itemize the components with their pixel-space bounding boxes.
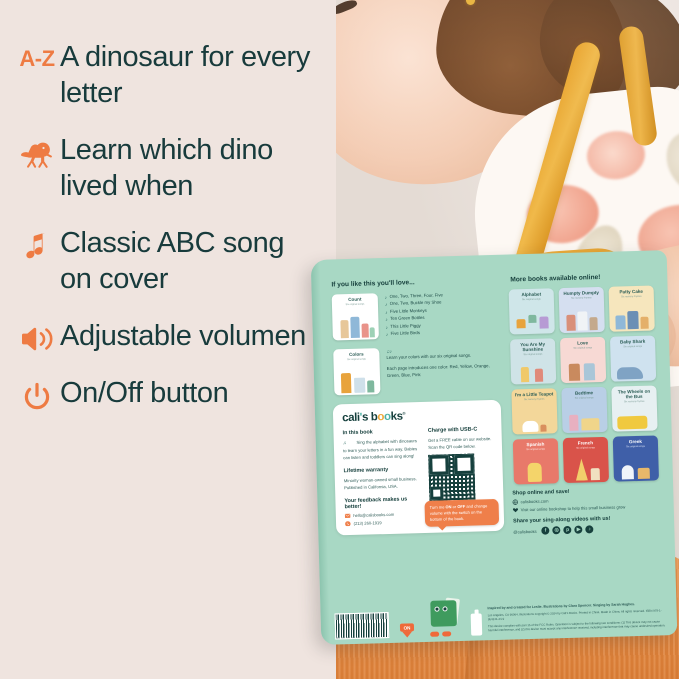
in-this-book-text: Sing the alphabet with dinosaurs to lear… xyxy=(343,438,417,460)
dinosaur-icon xyxy=(14,133,60,171)
thumb-artwork xyxy=(562,404,608,431)
shop-section: Shop online and save! calisbooks.com Vis… xyxy=(512,486,660,512)
more-books-title: More books available online! xyxy=(510,272,653,283)
share-title: Share your sing-along videos with us! xyxy=(513,514,660,524)
thumb-artwork xyxy=(559,304,605,331)
mascot-body xyxy=(430,600,457,627)
warranty-title: Lifetime warranty xyxy=(344,466,421,474)
mail-icon xyxy=(345,513,351,519)
thumb-subtitle: Six original songs xyxy=(566,446,605,450)
music-note-icon: ♪ xyxy=(385,309,388,316)
shop-website: calisbooks.com xyxy=(520,499,548,505)
barcode xyxy=(335,612,390,639)
a-z-icon: A-Z xyxy=(14,40,60,72)
thumb-artwork xyxy=(563,454,609,481)
thumb-subtitle: Six original songs xyxy=(335,302,375,306)
thumb-subtitle: Six nursery rhymes xyxy=(562,296,601,300)
card-left-column: In this book ♫ Sing the alphabet with di… xyxy=(342,428,422,527)
thumb-artwork xyxy=(612,402,658,429)
thumb-subtitle: Six original songs xyxy=(336,357,376,361)
thumb-subtitle: Six original songs xyxy=(616,445,655,449)
power-icon xyxy=(14,376,60,412)
book-thumb-colors[interactable]: Colors Six original songs xyxy=(333,348,380,395)
thumb-artwork xyxy=(513,455,559,482)
thumb-artwork xyxy=(560,354,606,381)
shop-note: Visit our online bookshop to help this s… xyxy=(521,504,626,512)
feature-item-alphabet: A-Z A dinosaur for every letter xyxy=(14,40,322,112)
feature-item-abc-song: Classic ABC song on cover xyxy=(14,226,322,298)
youtube-icon[interactable]: ▶ xyxy=(574,526,582,534)
thumb-subtitle: Six nursery rhymes xyxy=(612,295,651,299)
fine-print: Inspired by and created for Leslie. Illu… xyxy=(487,601,667,635)
social-links: @calisbooks f ◎ p ▶ ♪ xyxy=(513,523,660,535)
book-mascot-character xyxy=(424,596,465,637)
book-right-column: More books available online! Alphabet Si… xyxy=(504,272,660,535)
colors-para-2: Each page introduces one color: Red, Yel… xyxy=(387,362,500,379)
mascot-foot xyxy=(442,631,451,636)
phone-value: (213) 260-1919 xyxy=(354,520,382,526)
grid-book-wheels-on-the-bus[interactable]: The Wheels on the Bus Six nursery rhymes xyxy=(611,385,657,431)
grid-book-baby-shark[interactable]: Baby Shark Six original songs xyxy=(610,335,656,381)
thumb-artwork xyxy=(509,305,555,332)
in-this-book-title: In this book xyxy=(342,428,419,436)
usb-cable-illustration xyxy=(471,613,483,635)
bubble-off: OFF xyxy=(457,504,465,509)
email-value: hello@calisbooks.com xyxy=(353,512,394,518)
grid-book-love[interactable]: Love Six original songs xyxy=(560,337,606,383)
grid-book-im-a-little-teapot[interactable]: I'm a Little Teapot Six nursery rhymes xyxy=(511,388,557,434)
feature-label: Classic ABC song on cover xyxy=(60,226,322,298)
globe-icon xyxy=(512,499,518,505)
feedback-section: Your feedback makes us better! hello@cal… xyxy=(344,496,422,527)
music-note-icon: ♪ xyxy=(385,316,388,323)
fcc-text: This device complies with part 15 of the… xyxy=(488,619,667,632)
thumb-subtitle: Six original songs xyxy=(512,297,551,301)
music-note-icon: ♫ xyxy=(343,440,347,445)
on-badge-label: ON xyxy=(399,623,414,631)
pinterest-icon[interactable]: p xyxy=(564,526,572,534)
facebook-icon[interactable]: f xyxy=(542,526,550,534)
thumb-artwork xyxy=(610,352,656,379)
grid-book-you-are-my-sunshine[interactable]: You Are My Sunshine Six original songs xyxy=(510,338,556,384)
in-this-book-row: ♫ Sing the alphabet with dinosaurs to le… xyxy=(343,437,421,461)
music-note-icon: ♪ xyxy=(386,331,389,338)
grid-book-patty-cake[interactable]: Patty Cake Six nursery rhymes xyxy=(609,285,655,331)
thumb-subtitle: Six original songs xyxy=(565,396,604,400)
feature-label: On/Off button xyxy=(60,376,228,412)
suggestions-title: If you like this you'll love... xyxy=(331,277,497,289)
book-bottom-strip: ON Inspired by and created for Leslie. I… xyxy=(334,590,667,639)
phone-line[interactable]: (213) 260-1919 xyxy=(345,519,422,527)
thumb-artwork xyxy=(510,355,556,382)
mascot-eye xyxy=(434,607,439,612)
speaker-icon xyxy=(14,319,60,353)
book-thumb-count[interactable]: Count Six original songs xyxy=(332,293,379,340)
email-line[interactable]: hello@calisbooks.com xyxy=(345,511,422,519)
colors-description: ♫♪ Learn your colors with our six origin… xyxy=(386,345,500,394)
suggestion-colors: Colors Six original songs ♫♪ Learn your … xyxy=(333,345,500,396)
book-back-cover: If you like this you'll love... Count Si… xyxy=(311,250,678,645)
thumb-artwork xyxy=(512,405,558,432)
arrow-down-icon xyxy=(402,631,412,637)
heart-icon xyxy=(513,507,519,513)
book-grid: Alphabet Six original songs Humpty Dumpt… xyxy=(509,285,659,484)
thumb-title: You Are My Sunshine xyxy=(513,341,552,352)
grid-book-alphabet[interactable]: Alphabet Six original songs xyxy=(509,288,555,334)
warranty-text: Minority woman-owned small business. Pub… xyxy=(344,475,422,491)
grid-book-humpty-dumpty[interactable]: Humpty Dumpty Six nursery rhymes xyxy=(559,287,605,333)
thumb-title: The Wheels on the Bus xyxy=(614,389,653,400)
thumb-subtitle: Six original songs xyxy=(516,447,555,451)
thumb-subtitle: Six original songs xyxy=(563,346,602,350)
thumb-artwork xyxy=(334,366,381,393)
thumb-artwork xyxy=(609,302,655,329)
social-handle: @calisbooks xyxy=(513,528,536,534)
music-note-icon: ♪ xyxy=(386,324,389,331)
mascot-eye xyxy=(442,606,447,611)
brand-info-card: cali's books® In this book ♫ Sing the al… xyxy=(333,400,505,536)
thumb-artwork xyxy=(613,452,659,479)
on-switch-marker: ON xyxy=(395,623,419,638)
tiktok-icon[interactable]: ♪ xyxy=(585,525,593,533)
usb-text: Get a FREE cable on our website. Scan th… xyxy=(428,435,493,451)
floral-pattern xyxy=(657,124,679,201)
feature-label: Learn which dino lived when xyxy=(60,133,322,205)
on-off-callout-bubble: Turn me ON or OFF and change volume with… xyxy=(424,499,499,527)
feature-list-panel: A-Z A dinosaur for every letter Learn wh… xyxy=(0,0,336,679)
music-note-icon xyxy=(14,226,60,262)
phone-icon xyxy=(345,521,351,527)
thumb-artwork xyxy=(332,311,379,338)
suggestion-count: Count Six original songs ♪One, Two, Thre… xyxy=(332,290,499,341)
usb-title: Charge with USB-C xyxy=(428,426,493,434)
list-item: ♪Five Little Birds xyxy=(386,330,444,339)
music-note-icon: ♪ xyxy=(385,294,388,301)
thumb-subtitle: Six original songs xyxy=(613,345,652,349)
shop-title: Shop online and save! xyxy=(512,486,659,496)
book-left-column: If you like this you'll love... Count Si… xyxy=(325,277,504,541)
bubble-prefix: Turn me xyxy=(430,505,446,510)
feature-item-volume: Adjustable volumen xyxy=(14,319,322,355)
warranty-section: Lifetime warranty Minority woman-owned s… xyxy=(344,466,422,491)
instagram-icon[interactable]: ◎ xyxy=(553,526,561,534)
grid-book-greek[interactable]: Greek Six original songs xyxy=(613,435,659,481)
grid-book-french[interactable]: French Six original songs xyxy=(563,437,609,483)
qr-code[interactable] xyxy=(428,454,475,501)
feature-label: Adjustable volumen xyxy=(60,319,306,355)
grid-book-spanish[interactable]: Spanish Six original songs xyxy=(513,438,559,484)
feedback-title: Your feedback makes us better! xyxy=(344,496,422,510)
music-note-icon: ♪ xyxy=(385,301,388,308)
share-section: Share your sing-along videos with us! @c… xyxy=(513,514,660,535)
thumb-subtitle: Six nursery rhymes xyxy=(515,397,554,401)
feature-item-power: On/Off button xyxy=(14,376,322,412)
grid-book-bedtime[interactable]: Bedtime Six original songs xyxy=(561,387,607,433)
feature-label: A dinosaur for every letter xyxy=(60,40,322,112)
a-z-icon-label: A-Z xyxy=(19,46,54,72)
mascot-foot xyxy=(430,632,439,637)
count-song-list: ♪One, Two, Three, Four, Five ♪One, Two, … xyxy=(385,291,444,339)
brand-logo: cali's books® xyxy=(342,408,492,424)
feature-item-dino-era: Learn which dino lived when xyxy=(14,133,322,205)
